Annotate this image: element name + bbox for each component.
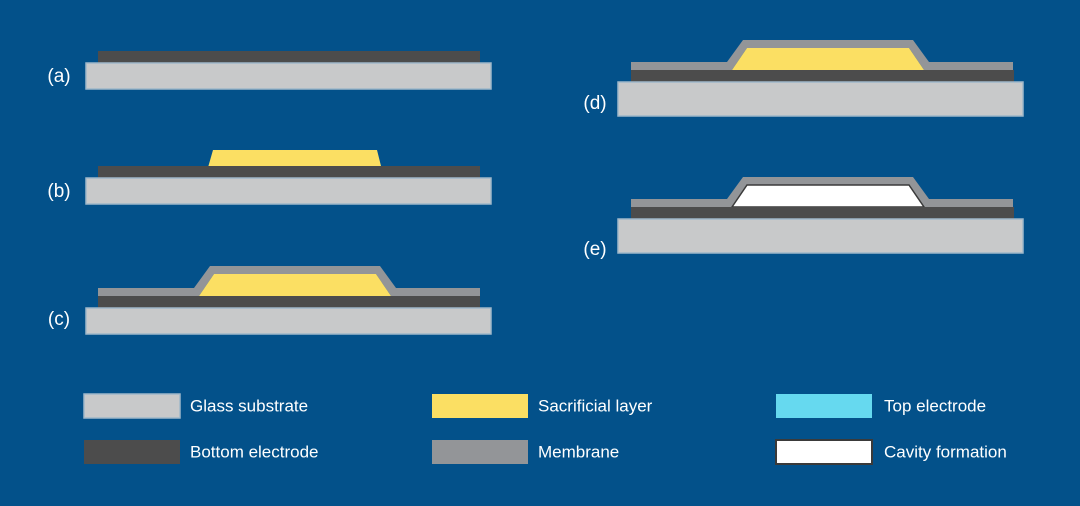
legend-swatch-cavity-formation: [776, 440, 872, 464]
legend-item-glass-substrate: Glass substrate: [84, 394, 308, 418]
panel-e-cavity: [732, 185, 924, 207]
legend-swatch-sacrificial-layer: [432, 394, 528, 418]
legend-swatch-glass-substrate: [84, 394, 180, 418]
panel-a: (a): [47, 51, 491, 89]
panel-c-sacrificial-layer: [199, 274, 391, 296]
panel-b-bottom-electrode: [98, 166, 480, 178]
legend-item-sacrificial-layer: Sacrificial layer: [432, 394, 653, 418]
panel-c-glass-substrate: [86, 308, 491, 334]
legend-item-bottom-electrode: Bottom electrode: [84, 440, 319, 464]
panel-e-label: (e): [583, 239, 606, 260]
panel-b-label: (b): [47, 181, 70, 202]
panel-c-label: (c): [48, 309, 70, 330]
panel-d-label: (d): [583, 93, 606, 114]
legend-label-membrane: Membrane: [538, 442, 619, 461]
panel-e-glass-substrate: [618, 219, 1023, 253]
panel-a-label: (a): [47, 66, 70, 87]
legend-label-sacrificial-layer: Sacrificial layer: [538, 396, 653, 415]
panel-d-sacrificial-layer: [732, 48, 924, 70]
legend-swatch-top-electrode: [776, 394, 872, 418]
panel-e-bottom-electrode: [631, 207, 1014, 219]
legend-label-bottom-electrode: Bottom electrode: [190, 442, 319, 461]
legend-swatch-bottom-electrode: [84, 440, 180, 464]
panel-c-bottom-electrode: [98, 296, 480, 308]
legend-label-glass-substrate: Glass substrate: [190, 396, 308, 415]
legend-label-top-electrode: Top electrode: [884, 396, 986, 415]
legend-label-cavity-formation: Cavity formation: [884, 442, 1007, 461]
figure-root: (a) (b) (c) (d): [0, 0, 1080, 506]
legend-item-membrane: Membrane: [432, 440, 619, 464]
panel-a-glass-substrate: [86, 63, 491, 89]
panel-d-glass-substrate: [618, 82, 1023, 116]
panel-a-bottom-electrode: [98, 51, 480, 63]
panel-b-glass-substrate: [86, 178, 491, 204]
panel-d-bottom-electrode: [631, 70, 1014, 82]
fabrication-process-diagram: (a) (b) (c) (d): [0, 0, 1080, 506]
legend-swatch-membrane: [432, 440, 528, 464]
legend-item-cavity-formation: Cavity formation: [776, 440, 1007, 464]
